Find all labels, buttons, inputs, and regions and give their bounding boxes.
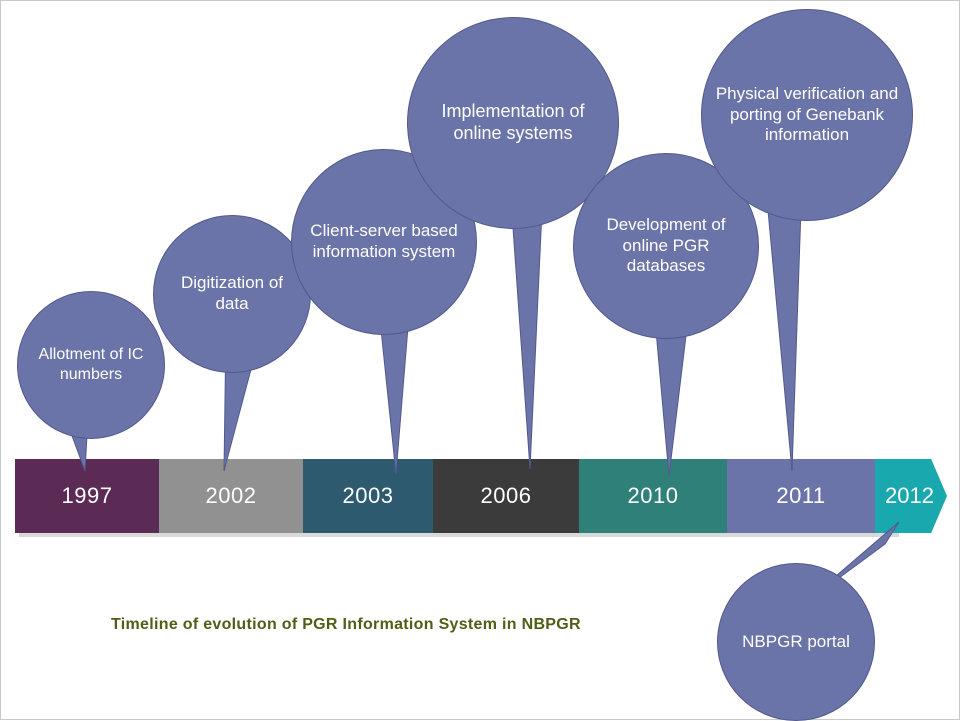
timeline-year-2006: 2006 xyxy=(481,483,532,509)
milestone-label-2006: Implementation of online systems xyxy=(408,101,618,145)
timeline-year-2010: 2010 xyxy=(628,483,679,509)
milestone-balloon-1997[interactable]: Allotment of IC numbers xyxy=(17,291,165,439)
milestone-label-2011: Physical verification and porting of Gen… xyxy=(702,84,912,146)
diagram-caption: Timeline of evolution of PGR Information… xyxy=(111,616,581,634)
milestone-label-2002: Digitization of data xyxy=(154,273,310,314)
timeline-year-2003: 2003 xyxy=(343,483,394,509)
milestone-balloon-2012[interactable]: NBPGR portal xyxy=(717,563,875,721)
timeline-year-1997: 1997 xyxy=(62,483,113,509)
timeline-year-2011: 2011 xyxy=(776,483,825,509)
timeline-year-2002: 2002 xyxy=(206,483,257,509)
milestone-label-2012: NBPGR portal xyxy=(732,632,860,653)
timeline-diagram: Allotment of IC numbers Digitization of … xyxy=(0,0,960,720)
milestone-balloon-2002[interactable]: Digitization of data xyxy=(153,215,311,373)
milestone-label-1997: Allotment of IC numbers xyxy=(18,345,164,384)
timeline-year-2012: 2012 xyxy=(885,483,934,509)
milestone-label-2010: Development of online PGR databases xyxy=(574,215,758,277)
milestone-label-2003: Client-server based information system xyxy=(292,221,476,262)
milestone-balloon-2011[interactable]: Physical verification and porting of Gen… xyxy=(701,9,913,221)
